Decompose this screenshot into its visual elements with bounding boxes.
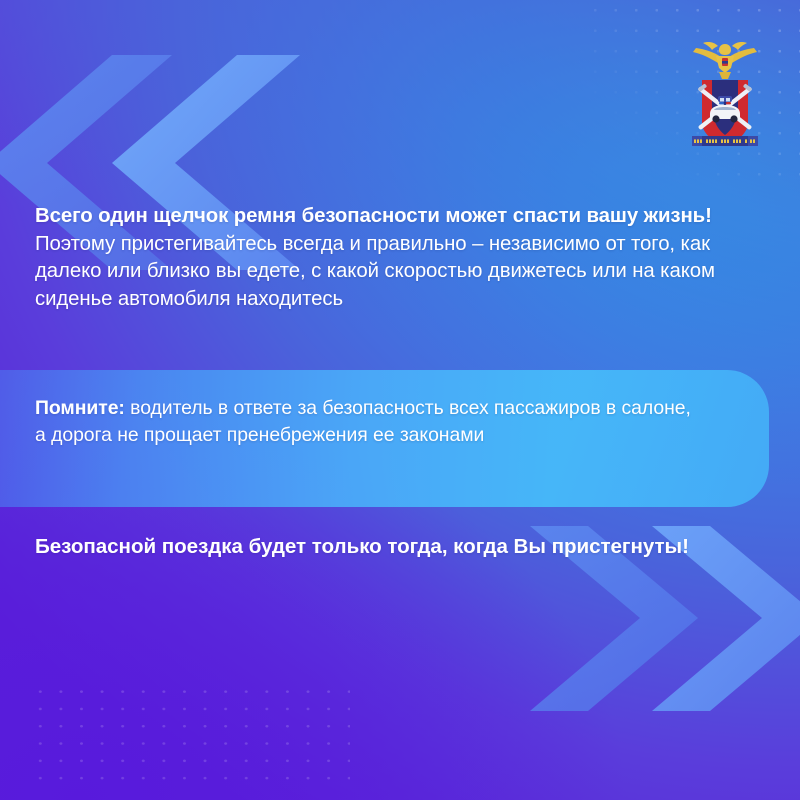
dot-grid-bottom-left bbox=[30, 683, 350, 793]
message-rest-2: водитель в ответе за безопасность всех п… bbox=[35, 397, 691, 446]
double-headed-eagle-icon bbox=[693, 42, 757, 79]
gibdd-emblem-icon: ГИБДД МВД России bbox=[688, 36, 762, 154]
emblem-motto-ribbon bbox=[692, 136, 758, 146]
message-block-conclusion: Безопасной поездка будет только тогда, к… bbox=[35, 532, 695, 562]
message-lead-1: Всего один щелчок ремня безопасности мож… bbox=[35, 205, 712, 227]
message-block-primary: Всего один щелчок ремня безопасности мож… bbox=[35, 203, 725, 313]
message-lead-3: Безопасной поездка будет только тогда, к… bbox=[35, 535, 689, 558]
message-paragraph-2: Помните: водитель в ответе за безопаснос… bbox=[35, 395, 695, 449]
message-lead-2: Помните: bbox=[35, 397, 125, 419]
poster-canvas: ГИБДД МВД России bbox=[0, 0, 800, 800]
message-rest-1: Поэтому пристегивайтесь всегда и правиль… bbox=[35, 233, 715, 310]
message-paragraph-3: Безопасной поездка будет только тогда, к… bbox=[35, 532, 695, 562]
message-paragraph-1: Всего один щелчок ремня безопасности мож… bbox=[35, 203, 725, 313]
message-block-reminder: Помните: водитель в ответе за безопаснос… bbox=[35, 395, 695, 449]
